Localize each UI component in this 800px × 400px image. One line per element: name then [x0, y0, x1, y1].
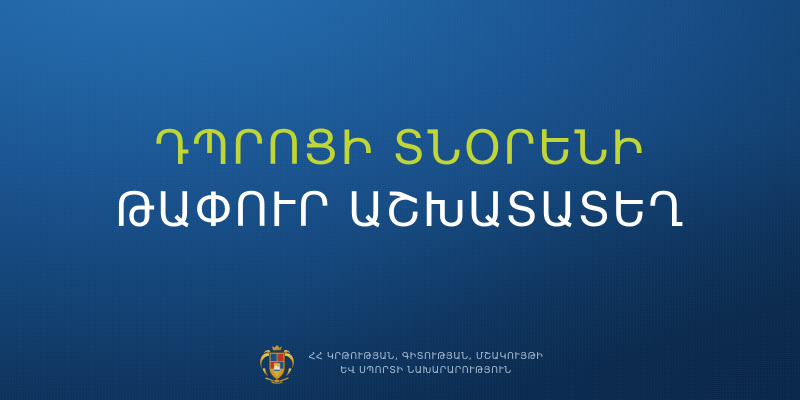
ministry-line-1: ՀՀ ԿՐԹՈՒԹՅԱՆ, ԳԻՏՈՒԹՅԱՆ, ՄՇԱԿՈՒՅԹԻ: [309, 351, 544, 363]
ministry-text-block: ՀՀ ԿՐԹՈՒԹՅԱՆ, ԳԻՏՈՒԹՅԱՆ, ՄՇԱԿՈՒՅԹԻ ԵՎ ՍՊ…: [309, 351, 544, 377]
armenia-coat-of-arms-emblem: [257, 343, 297, 385]
headline-line-2: ԹԱՓՈՒՐ ԱՇԽԱՏԱՏԵՂ: [0, 180, 800, 242]
headline-block: ԴՊՐՈՑԻ ՏՆՕՐԵՆԻ ԹԱՓՈՒՐ ԱՇԽԱՏԱՏԵՂ: [0, 118, 800, 242]
ministry-line-2: ԵՎ ՍՊՈՐՏԻ ՆԱԽԱՐԱՐՈՒԹՅՈՒՆ: [309, 365, 544, 377]
ministry-footer: ՀՀ ԿՐԹՈՒԹՅԱՆ, ԳԻՏՈՒԹՅԱՆ, ՄՇԱԿՈՒՅԹԻ ԵՎ ՍՊ…: [0, 336, 800, 392]
announcement-banner: ԴՊՐՈՑԻ ՏՆՕՐԵՆԻ ԹԱՓՈՒՐ ԱՇԽԱՏԱՏԵՂ: [0, 0, 800, 400]
headline-line-1: ԴՊՐՈՑԻ ՏՆՕՐԵՆԻ: [0, 118, 800, 180]
